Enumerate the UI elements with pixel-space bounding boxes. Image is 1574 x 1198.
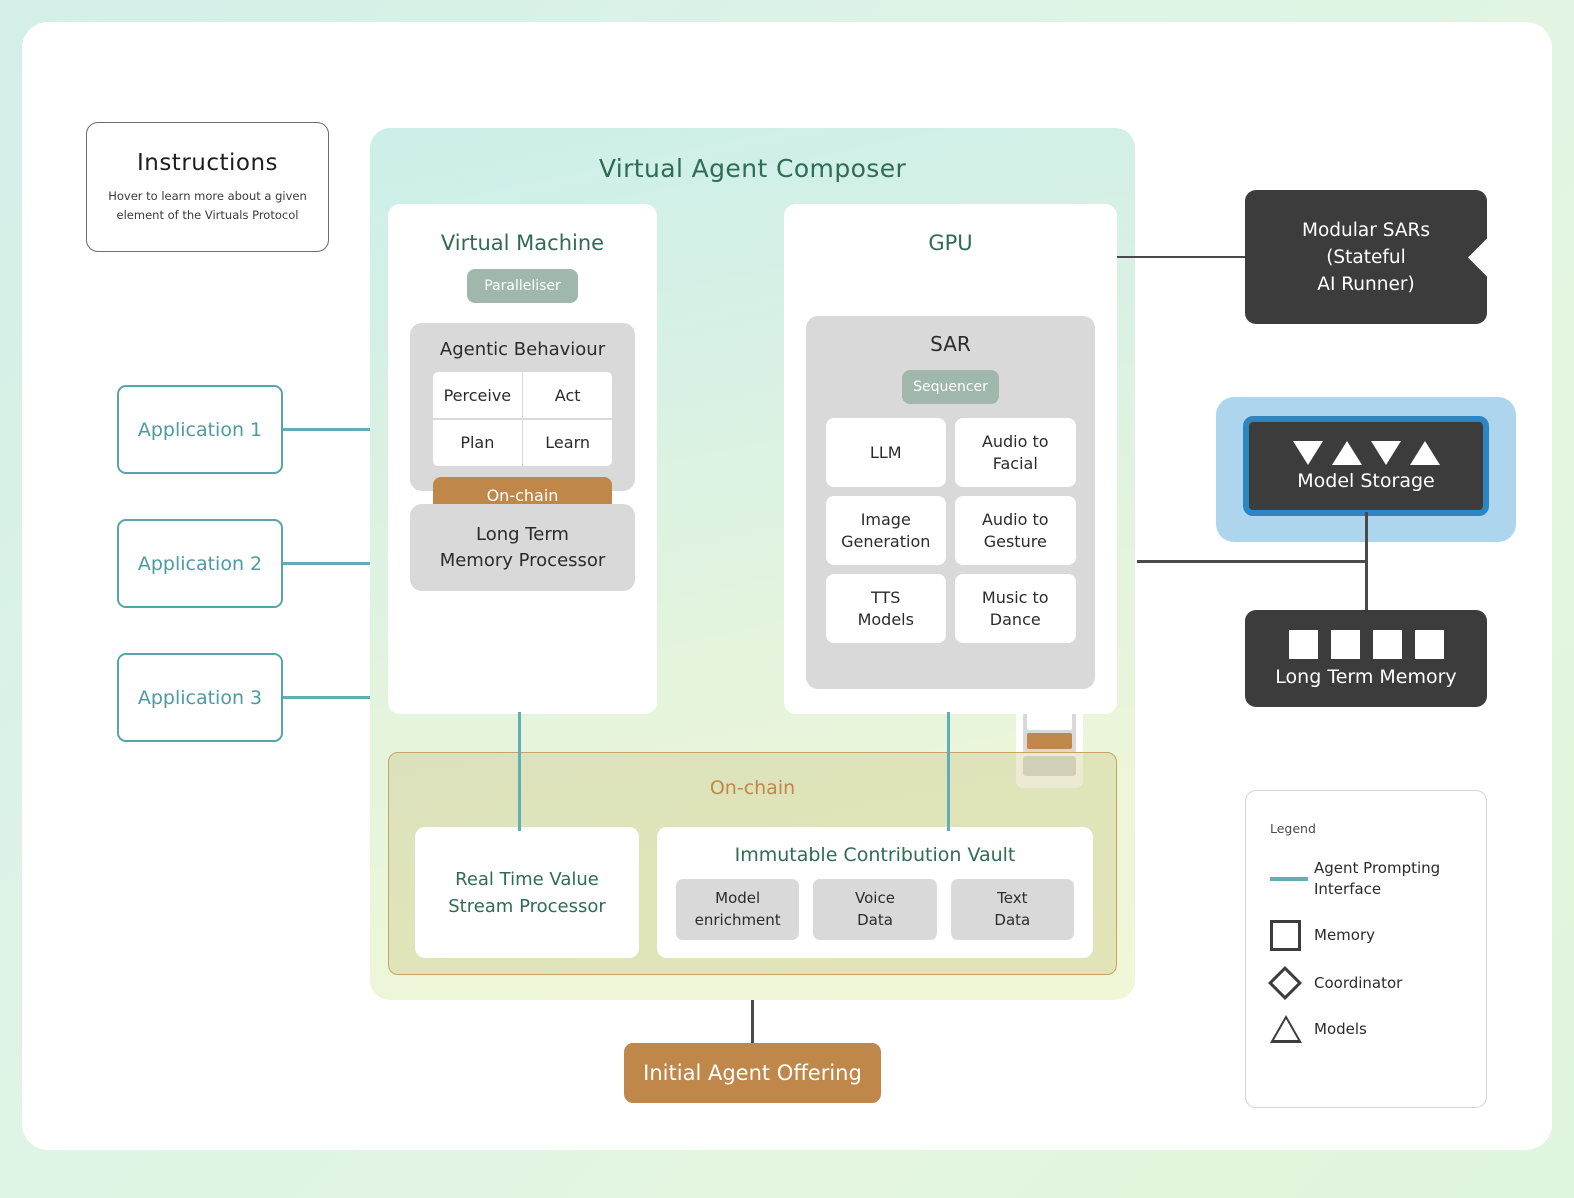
modular-sars-line-1: Modular SARs	[1302, 217, 1430, 244]
agentic-cell-perceive[interactable]: Perceive	[433, 372, 522, 418]
paralleliser-badge[interactable]: Paralleliser	[467, 269, 578, 303]
agentic-behaviour-title: Agentic Behaviour	[410, 339, 635, 360]
virtual-machine-panel[interactable]: Virtual Machine Paralleliser Agentic Beh…	[388, 204, 657, 714]
vault-voice-line-2: Data	[857, 910, 893, 932]
application-1-label: Application 1	[138, 419, 262, 441]
gpu-panel[interactable]: GPU SAR Sequencer LLM Audio to Facial Im…	[784, 204, 1117, 714]
application-2-node[interactable]: Application 2	[117, 519, 283, 608]
virtual-machine-title: Virtual Machine	[388, 231, 657, 255]
rtv-line-1: Real Time Value	[455, 866, 599, 893]
model-cell-tts-models[interactable]: TTS Models	[826, 574, 947, 643]
sar-model-grid: LLM Audio to Facial Image Generation Aud…	[826, 418, 1076, 643]
model-audio-gesture-line-1: Audio to	[982, 509, 1049, 531]
memory-square-icon-4	[1415, 630, 1444, 659]
legend-label-models: Models	[1314, 1019, 1367, 1040]
real-time-value-stream-processor-node[interactable]: Real Time Value Stream Processor	[415, 827, 639, 958]
instructions-card: Instructions Hover to learn more about a…	[86, 122, 329, 252]
diagram-canvas: Instructions Hover to learn more about a…	[22, 22, 1552, 1150]
vault-text-line-1: Text	[997, 888, 1027, 910]
model-image-gen-line-2: Generation	[841, 531, 930, 553]
application-3-label: Application 3	[138, 687, 262, 709]
model-audio-facial-line-1: Audio to	[982, 431, 1049, 453]
long-term-memory-label: Long Term Memory	[1275, 666, 1456, 688]
gpu-to-model-storage-connector	[1137, 560, 1367, 563]
model-storage-node[interactable]: Model Storage	[1243, 416, 1489, 516]
application-2-connector	[283, 562, 375, 565]
vault-model-line-2: enrichment	[695, 910, 781, 932]
agentic-cell-learn[interactable]: Learn	[523, 420, 612, 466]
model-cell-llm[interactable]: LLM	[826, 418, 947, 487]
vault-title: Immutable Contribution Vault	[657, 844, 1093, 866]
sequencer-badge[interactable]: Sequencer	[902, 370, 999, 404]
models-triangle-icons	[1293, 441, 1440, 465]
agentic-behaviour-group[interactable]: Agentic Behaviour Perceive Act Plan Lear…	[410, 323, 635, 491]
vm-to-onchain-connector	[518, 712, 521, 831]
triangle-up-icon-1	[1332, 441, 1362, 465]
application-1-connector	[283, 428, 375, 431]
ltm-processor-line-1: Long Term	[476, 522, 569, 547]
rtv-line-2: Stream Processor	[448, 893, 606, 920]
application-1-node[interactable]: Application 1	[117, 385, 283, 474]
ltm-processor-line-2: Memory Processor	[440, 548, 606, 573]
model-llm-line-1: LLM	[870, 442, 902, 464]
model-tts-line-1: TTS	[871, 587, 900, 609]
sar-group[interactable]: SAR Sequencer LLM Audio to Facial Image …	[806, 316, 1095, 689]
composer-title: Virtual Agent Composer	[370, 154, 1135, 183]
memory-square-icon-1	[1289, 630, 1318, 659]
modular-sars-node[interactable]: Modular SARs (Stateful AI Runner)	[1245, 190, 1487, 324]
application-3-connector	[283, 696, 375, 699]
agentic-behaviour-grid: Perceive Act Plan Learn	[433, 372, 612, 466]
model-music-dance-line-1: Music to	[982, 587, 1049, 609]
long-term-memory-node[interactable]: Long Term Memory	[1245, 610, 1487, 707]
legend-card: Legend Agent Prompting Interface Memory …	[1245, 790, 1487, 1108]
model-tts-line-2: Models	[858, 609, 914, 631]
onchain-title: On-chain	[389, 777, 1116, 799]
vault-cell-model-enrichment[interactable]: Model enrichment	[676, 879, 799, 940]
modular-sars-line-2: (Stateful	[1326, 244, 1406, 271]
sar-title: SAR	[806, 332, 1095, 356]
legend-item-coordinator: Coordinator	[1270, 971, 1486, 995]
memory-square-icon-3	[1373, 630, 1402, 659]
triangle-down-icon-1	[1293, 441, 1323, 465]
legend-label-agent-prompting-interface: Agent Prompting Interface	[1314, 858, 1486, 900]
gpu-to-onchain-connector	[947, 712, 950, 831]
legend-item-models: Models	[1270, 1015, 1486, 1043]
application-2-label: Application 2	[138, 553, 262, 575]
model-music-dance-line-2: Dance	[990, 609, 1041, 631]
model-cell-image-generation[interactable]: Image Generation	[826, 496, 947, 565]
virtual-agent-composer-panel: Virtual Agent Composer Virtual Machine P…	[370, 128, 1135, 1000]
triangle-up-icon-2	[1410, 441, 1440, 465]
memory-square-icons	[1289, 630, 1444, 659]
legend-line-icon	[1270, 877, 1314, 880]
model-storage-to-memory-connector	[1365, 512, 1368, 612]
legend-diamond-icon	[1270, 971, 1314, 995]
triangle-down-icon-2	[1371, 441, 1401, 465]
legend-title: Legend	[1270, 821, 1486, 836]
immutable-contribution-vault-node[interactable]: Immutable Contribution Vault Model enric…	[657, 827, 1093, 958]
gpu-title: GPU	[784, 231, 1117, 255]
iao-connector	[751, 1000, 754, 1043]
model-cell-audio-to-facial[interactable]: Audio to Facial	[955, 418, 1076, 487]
model-audio-facial-line-2: Facial	[993, 453, 1038, 475]
model-cell-music-to-dance[interactable]: Music to Dance	[955, 574, 1076, 643]
vault-voice-line-1: Voice	[855, 888, 895, 910]
vault-cell-voice-data[interactable]: Voice Data	[813, 879, 936, 940]
initial-agent-offering-node[interactable]: Initial Agent Offering	[624, 1043, 881, 1103]
vm-instance-4-wallet-icon	[1027, 733, 1072, 749]
application-3-node[interactable]: Application 3	[117, 653, 283, 742]
legend-item-memory: Memory	[1270, 920, 1486, 951]
modular-sars-line-3: AI Runner)	[1317, 271, 1414, 298]
legend-square-icon	[1270, 920, 1314, 951]
memory-square-icon-2	[1331, 630, 1360, 659]
model-image-gen-line-1: Image	[861, 509, 911, 531]
gpu-to-modular-sars-connector	[1117, 256, 1247, 259]
long-term-memory-processor-node[interactable]: Long Term Memory Processor	[410, 504, 635, 591]
initial-agent-offering-label: Initial Agent Offering	[643, 1061, 862, 1085]
instructions-body: Hover to learn more about a given elemen…	[101, 187, 314, 224]
onchain-region: On-chain Real Time Value Stream Processo…	[388, 752, 1117, 975]
agentic-cell-plan[interactable]: Plan	[433, 420, 522, 466]
vault-items: Model enrichment Voice Data Text Data	[676, 879, 1074, 940]
vault-model-line-1: Model	[715, 888, 760, 910]
model-cell-audio-to-gesture[interactable]: Audio to Gesture	[955, 496, 1076, 565]
agentic-cell-act[interactable]: Act	[523, 372, 612, 418]
vault-text-line-2: Data	[994, 910, 1030, 932]
legend-label-coordinator: Coordinator	[1314, 973, 1402, 994]
model-storage-label: Model Storage	[1297, 470, 1434, 492]
legend-item-agent-prompting-interface: Agent Prompting Interface	[1270, 858, 1486, 900]
vault-cell-text-data[interactable]: Text Data	[951, 879, 1074, 940]
legend-label-memory: Memory	[1314, 925, 1375, 946]
instructions-title: Instructions	[137, 150, 278, 176]
legend-triangle-icon	[1270, 1015, 1314, 1043]
model-audio-gesture-line-2: Gesture	[984, 531, 1047, 553]
